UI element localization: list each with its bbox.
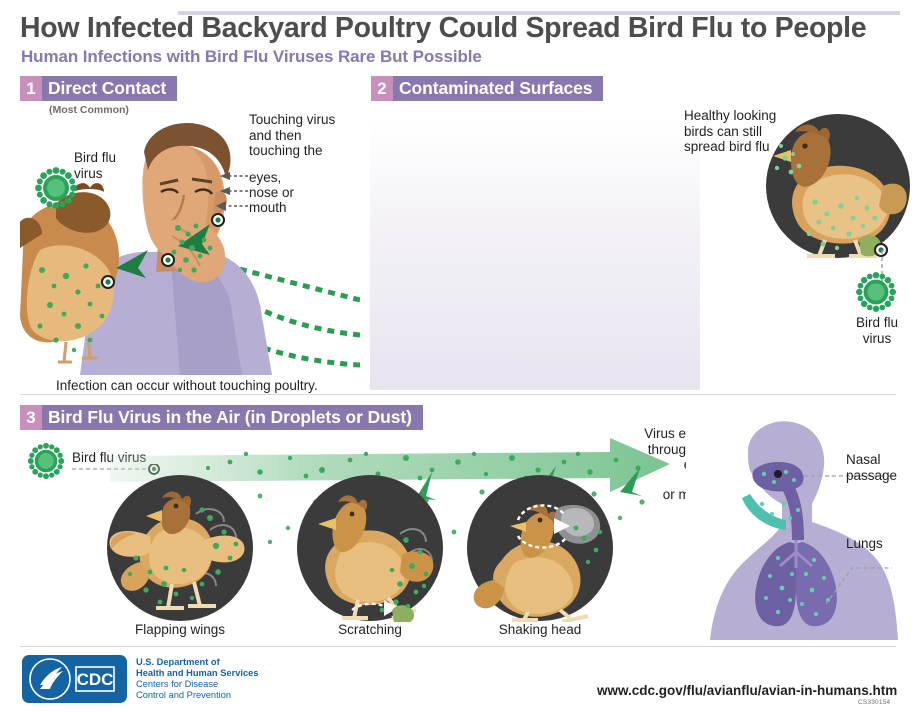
section-1-label: Direct Contact xyxy=(42,76,177,101)
section-2-virus-label: Bird flu virus xyxy=(846,315,908,346)
publication-code: CS330154 xyxy=(858,699,890,706)
section-1-callout: Touching virus and then touching the xyxy=(249,112,345,159)
healthy-bird-circle xyxy=(763,110,913,262)
behavior-circle-scratching xyxy=(296,474,444,622)
wing-right xyxy=(202,536,245,563)
cdc-logo-mark: CDC xyxy=(22,655,127,703)
infographic-root: How Infected Backyard Poultry Could Spre… xyxy=(0,0,916,712)
behavior-circle-shaking xyxy=(466,474,614,622)
agency-line-4: Control and Prevention xyxy=(136,690,258,701)
page-title: How Infected Backyard Poultry Could Spre… xyxy=(20,12,866,45)
anatomy-label-nasal-passage: Nasal passage xyxy=(846,452,908,483)
cdc-agency-text: U.S. Department of Health and Human Serv… xyxy=(136,657,258,701)
section-1-footnote: Infection can occur without touching pou… xyxy=(56,378,318,394)
nostril-marker xyxy=(774,470,782,478)
flapping-wings-scene xyxy=(106,474,254,622)
footer-url[interactable]: www.cdc.gov/flu/avianflu/avian-in-humans… xyxy=(597,683,897,698)
section-1-virus-label: Bird flu virus xyxy=(74,150,144,181)
virus-spikes xyxy=(35,167,77,209)
section-divider-bottom xyxy=(20,646,896,647)
section-divider-top xyxy=(20,394,896,395)
section-1-virus-icon xyxy=(33,165,79,211)
section-3-label: Bird Flu Virus in the Air (in Droplets o… xyxy=(42,405,423,430)
behavior-caption-flapping: Flapping wings xyxy=(106,622,254,637)
cdc-logo-background: CDC xyxy=(22,655,127,703)
section-1-target-mouth: mouth xyxy=(249,200,287,216)
behavior-caption-scratching: Scratching xyxy=(296,622,444,637)
section-2-header: 2 Contaminated Surfaces xyxy=(371,76,603,101)
agency-line-3: Centers for Disease xyxy=(136,679,258,690)
section-1-target-nose: nose or xyxy=(249,185,294,201)
section-2-callout: Healthy looking birds can still spread b… xyxy=(684,108,780,155)
section-1-number: 1 xyxy=(20,76,42,101)
virus-spikes xyxy=(28,443,64,479)
section-3-header: 3 Bird Flu Virus in the Air (in Droplets… xyxy=(20,405,423,430)
shaking-head-scene xyxy=(466,474,614,622)
behavior-circle-flapping xyxy=(106,474,254,622)
virus-spikes xyxy=(856,272,896,312)
section-2-number: 2 xyxy=(371,76,393,101)
section-3-virus-icon xyxy=(26,441,66,481)
section-3-rule xyxy=(430,11,900,15)
healthy-bird-scene xyxy=(763,110,913,262)
section-3-number: 3 xyxy=(20,405,42,430)
cdc-wordmark-text: CDC xyxy=(77,670,114,689)
anatomy-label-lungs: Lungs xyxy=(846,536,883,552)
behavior-caption-shaking: Shaking head xyxy=(466,622,614,637)
tail xyxy=(400,551,433,581)
coop-background xyxy=(370,120,700,390)
scratching-scene xyxy=(296,474,444,622)
agency-line-2: Health and Human Services xyxy=(136,668,258,679)
section-1-leader-arrows xyxy=(214,168,250,218)
section-1-target-eyes: eyes, xyxy=(249,170,281,186)
section-1-header: 1 Direct Contact xyxy=(20,76,177,101)
chicken-leg-1 xyxy=(58,342,72,362)
agency-line-1: U.S. Department of xyxy=(136,657,258,668)
page-subtitle: Human Infections with Bird Flu Viruses R… xyxy=(21,47,482,67)
contaminated-surfaces-illustration xyxy=(370,120,700,390)
section-2-label: Contaminated Surfaces xyxy=(393,76,603,101)
section-2-virus-icon xyxy=(854,270,898,314)
